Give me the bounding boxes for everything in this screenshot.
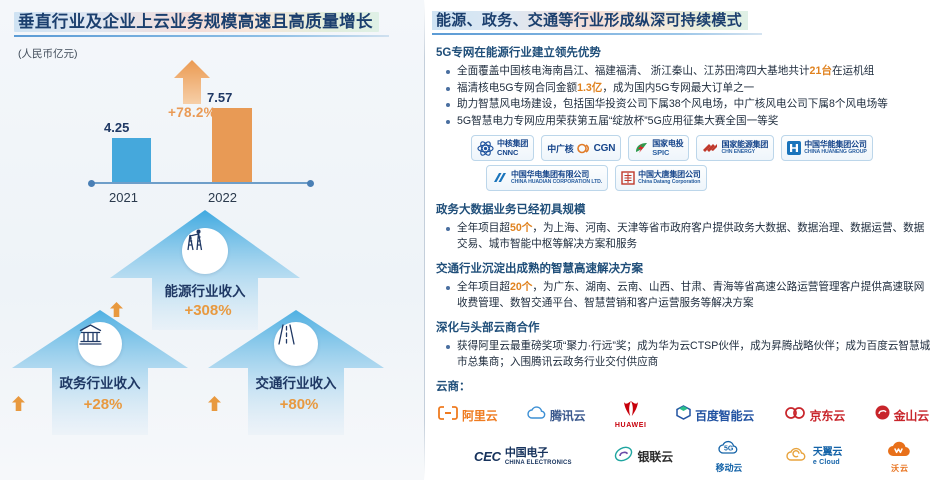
- list-item: 全面覆盖中国核电海南昌江、福建福清、 浙江秦山、江苏田湾四大基地共计21台在运机…: [446, 64, 943, 80]
- arrow-government-pct-value: +28%: [84, 396, 123, 413]
- title-underline: [14, 35, 389, 37]
- logo-wocloud: 沃云: [885, 440, 915, 474]
- logo-name: 京东云: [810, 407, 845, 424]
- logo-cgn: 中广核 CGN: [541, 135, 621, 161]
- logo-cn-name: 中国华能集团公司: [804, 141, 866, 149]
- bullet-list-gov: 全年项目超50个，为上海、河南、天津等省市政府客户提供政务大数据、数据治理、数据…: [446, 221, 933, 252]
- bullet-text: 全面覆盖中国核电海南昌江、福建福清、 浙江秦山、江苏田湾四大基地共计: [457, 65, 810, 77]
- page-title: 垂直行业及企业上云业务规模高速且高质量增长: [18, 10, 373, 34]
- growth-arrow-icon: [172, 60, 212, 104]
- left-title-block: 垂直行业及企业上云业务规模高速且高质量增长: [18, 10, 373, 34]
- logo-huadian: 中国华电集团有限公司 CHINA HUADIAN CORPORATION LTD…: [486, 165, 608, 191]
- chart-axis-line: [90, 182, 312, 184]
- logo-huaneng: 中国华能集团公司 CHINA HUANENG GROUP: [781, 135, 872, 161]
- logo-text: 中国华电集团有限公司 CHINA HUADIAN CORPORATION LTD…: [511, 171, 602, 185]
- section-heading-5g: 5G专网在能源行业建立领先优势: [436, 44, 943, 60]
- industry-arrows-group: 能源行业收入 +308%: [0, 210, 424, 480]
- section-heading-gov-bigdata: 政务大数据业务已经初具规模: [436, 201, 943, 217]
- chn-energy-icon: [702, 141, 718, 155]
- logo-jd-cloud: 京东云: [784, 406, 845, 424]
- arrow-government-pct: +28%: [12, 396, 188, 413]
- logo-cn-name: 中核集团: [497, 140, 528, 148]
- tencent-cloud-icon: [527, 406, 546, 425]
- logo-cn-name: 中广核: [547, 142, 573, 155]
- logo-en-name: CHINA HUANENG GROUP: [804, 150, 866, 155]
- section-heading-cloud-partners: 深化与头部云商合作: [436, 319, 943, 335]
- logo-text: 中国华能集团公司 CHINA HUANENG GROUP: [804, 141, 866, 155]
- panel-divider: [424, 0, 425, 480]
- logo-cn-name: 中国大唐集团公司: [638, 171, 700, 179]
- axis-end-dot-right: [307, 180, 314, 187]
- logo-en-name: CHN ENERGY: [721, 150, 768, 155]
- spic-icon: [634, 141, 649, 155]
- logo-text: 天翼云 e Cloud: [813, 448, 842, 466]
- list-item: 助力智慧风电场建设，包括国华投资公司下属38个风电场，中广核风电公司下属8个风电…: [446, 97, 943, 113]
- bullet-list-cloud: 获得阿里云最重磅奖项“聚力·行远”奖；成为华为云CTSP伙伴，成为昇腾战略伙伴；…: [446, 339, 933, 370]
- list-item: 全年项目超50个，为上海、河南、天津等省市政府客户提供政务大数据、数据治理、数据…: [446, 221, 933, 252]
- bullet-highlight: 50个: [510, 222, 532, 234]
- axis-end-dot-left: [88, 180, 95, 187]
- list-item: 5G智慧电力专网应用荣获第五届“绽放杯”5G应用征集大赛全国一等奖: [446, 114, 943, 130]
- logo-tencent-cloud: 腾讯云: [527, 406, 585, 425]
- logo-en-name: SPIC: [652, 149, 683, 157]
- logo-en-name: CHINA HUADIAN CORPORATION LTD.: [511, 180, 602, 185]
- arrow-government: 政务行业收入 +28%: [12, 310, 188, 435]
- right-panel: 能源、政务、交通等行业形成纵深可持续模式 5G专网在能源行业建立领先优势 全面覆…: [424, 0, 943, 480]
- bar-value-2021: 4.25: [104, 120, 129, 135]
- bullet-text: 获得阿里云最重磅奖项“聚力·行远”奖；成为华为云CTSP伙伴，成为昇腾战略伙伴；…: [457, 340, 930, 368]
- bullet-list-5g: 全面覆盖中国核电海南昌江、福建福清、 浙江秦山、江苏田湾四大基地共计21台在运机…: [446, 64, 943, 129]
- logo-cmcc-cloud: 5G 移动云: [716, 439, 742, 474]
- bar-2021: [112, 138, 151, 183]
- logo-spic: 国家电投 SPIC: [628, 135, 689, 161]
- bullet-highlight: 20个: [510, 281, 532, 293]
- bullet-highlight: 1.3亿: [577, 82, 602, 94]
- logo-cn-name: 国家能源集团: [721, 141, 768, 149]
- bullet-text-post: ，成为国内5G专网最大订单之一: [602, 82, 754, 94]
- logo-text: 中国电子 CHINA ELECTRONICS: [505, 448, 572, 466]
- logo-name: 中国电子: [505, 448, 572, 459]
- logo-name: 移动云: [716, 461, 742, 474]
- unionpay-cloud-icon: [614, 446, 633, 467]
- logo-unionpay-cloud: 银联云: [614, 446, 672, 467]
- huaneng-icon: [787, 141, 801, 155]
- logo-name: 金山云: [894, 407, 929, 424]
- huadian-icon: [492, 171, 508, 185]
- slide-root: 垂直行业及企业上云业务规模高速且高质量增长 (人民币亿元) +78.2% 4.2…: [0, 0, 943, 480]
- logo-en-sub: e Cloud: [813, 459, 842, 466]
- energy-logo-row-1: 中核集团 CNNC 中广核 CGN 国家电投 SPIC: [471, 135, 943, 161]
- svg-text:5G: 5G: [724, 446, 734, 453]
- arrow-government-title: 政务行业收入: [12, 372, 188, 392]
- bullet-highlight: 21台: [810, 65, 832, 77]
- logo-en-sub: CHINA ELECTRONICS: [505, 460, 572, 466]
- logo-en-name: CGN: [594, 143, 616, 154]
- logo-name: 沃云: [891, 463, 909, 474]
- logo-name: 腾讯云: [550, 407, 585, 424]
- cmcc-cloud-icon: 5G: [716, 439, 742, 460]
- arrow-energy-title: 能源行业收入: [110, 280, 300, 300]
- logo-sub-name: CEC: [474, 449, 501, 464]
- arrow-transport-title: 交通行业收入: [208, 372, 384, 392]
- logo-name: 天翼云: [813, 448, 842, 458]
- logo-kingsoft-cloud: 金山云: [875, 405, 929, 425]
- arrow-transport-pct: +80%: [208, 396, 384, 413]
- left-panel: 垂直行业及企业上云业务规模高速且高质量增长 (人民币亿元) +78.2% 4.2…: [0, 0, 424, 480]
- bullet-text: 5G智慧电力专网应用荣获第五届“绽放杯”5G应用征集大赛全国一等奖: [457, 115, 778, 127]
- logo-baidu-cloud: 百度智能云: [676, 405, 754, 425]
- logo-en-name: China Datang Corporation: [638, 180, 700, 185]
- logo-datang: 中国大唐集团公司 China Datang Corporation: [615, 165, 706, 191]
- logo-name: 阿里云: [462, 407, 497, 424]
- cloud-vendors-label: 云商：: [436, 378, 943, 394]
- logo-cn-name: 中国华电集团有限公司: [511, 171, 602, 179]
- aliyun-icon: [438, 406, 458, 425]
- ecloud-icon: [785, 447, 809, 467]
- jd-cloud-icon: [784, 406, 806, 424]
- logo-ecloud: 天翼云 e Cloud: [785, 447, 842, 467]
- bar-2022: [212, 108, 252, 183]
- list-item: 获得阿里云最重磅奖项“聚力·行远”奖；成为华为云CTSP伙伴，成为昇腾战略伙伴；…: [446, 339, 933, 370]
- energy-logo-row-2: 中国华电集团有限公司 CHINA HUADIAN CORPORATION LTD…: [486, 165, 943, 191]
- revenue-bar-chart: +78.2% 4.25 7.57 2021 2022: [90, 60, 350, 210]
- datang-icon: [621, 171, 635, 185]
- logo-name: HUAWEI: [615, 422, 647, 429]
- kingsoft-cloud-icon: [875, 405, 890, 425]
- logo-text: 中核集团 CNNC: [497, 140, 528, 157]
- logo-name: 银联云: [637, 448, 672, 465]
- arrow-transport-pct-value: +80%: [280, 396, 319, 413]
- logo-aliyun: 阿里云: [438, 406, 497, 425]
- cgn-icon: [577, 142, 591, 155]
- power-tower-icon: [182, 228, 228, 274]
- cloud-logo-row-1: 阿里云 腾讯云 HUAWEI 百度智能云: [438, 401, 929, 429]
- bullet-text: 福清核电5G专网合同金额: [457, 82, 577, 94]
- logo-chn-energy: 国家能源集团 CHN ENERGY: [696, 135, 774, 161]
- bullet-list-transport: 全年项目超20个，为广东、湖南、云南、山西、甘肃、青海等省高速公路运营管理客户提…: [446, 280, 933, 311]
- logo-en-name: CNNC: [497, 149, 528, 157]
- government-bank-icon: [78, 322, 122, 366]
- wocloud-icon: [885, 440, 915, 462]
- logo-cn-name: 国家电投: [652, 140, 683, 148]
- logo-text: 国家能源集团 CHN ENERGY: [721, 141, 768, 155]
- logo-cnnc: 中核集团 CNNC: [471, 135, 534, 161]
- right-title-block: 能源、政务、交通等行业形成纵深可持续模式: [436, 9, 742, 32]
- huawei-icon: [618, 401, 644, 421]
- chart-unit-label: (人民币亿元): [18, 46, 424, 61]
- logo-text: 国家电投 SPIC: [652, 140, 683, 157]
- logo-text: 中国大唐集团公司 China Datang Corporation: [638, 171, 700, 185]
- section-heading-transport: 交通行业沉淀出成熟的智慧高速解决方案: [436, 260, 943, 276]
- x-tick-2022: 2022: [208, 190, 237, 205]
- logo-cec: CEC 中国电子 CHINA ELECTRONICS: [474, 448, 572, 466]
- road-highway-icon: [274, 322, 318, 366]
- right-title-underline: [432, 33, 762, 35]
- cloud-logo-row-2: CEC 中国电子 CHINA ELECTRONICS 银联云 5G 移动云: [474, 439, 915, 474]
- right-page-title: 能源、政务、交通等行业形成纵深可持续模式: [436, 9, 742, 32]
- bullet-text: 助力智慧风电场建设，包括国华投资公司下属38个风电场，中广核风电公司下属8个风电…: [457, 98, 888, 110]
- bullet-text: 全年项目超: [457, 222, 510, 234]
- logo-name: 百度智能云: [695, 407, 754, 424]
- list-item: 全年项目超20个，为广东、湖南、云南、山西、甘肃、青海等省高速公路运营管理客户提…: [446, 280, 933, 311]
- list-item: 福清核电5G专网合同金额1.3亿，成为国内5G专网最大订单之一: [446, 81, 943, 97]
- logo-huawei: HUAWEI: [615, 401, 647, 429]
- arrow-transport: 交通行业收入 +80%: [208, 310, 384, 435]
- bar-value-2022: 7.57: [207, 90, 232, 105]
- cnnc-atom-icon: [477, 141, 494, 156]
- bullet-text: 全年项目超: [457, 281, 510, 293]
- x-tick-2021: 2021: [109, 190, 138, 205]
- bullet-text-post: 在运机组: [832, 65, 874, 77]
- baidu-cloud-icon: [676, 405, 691, 425]
